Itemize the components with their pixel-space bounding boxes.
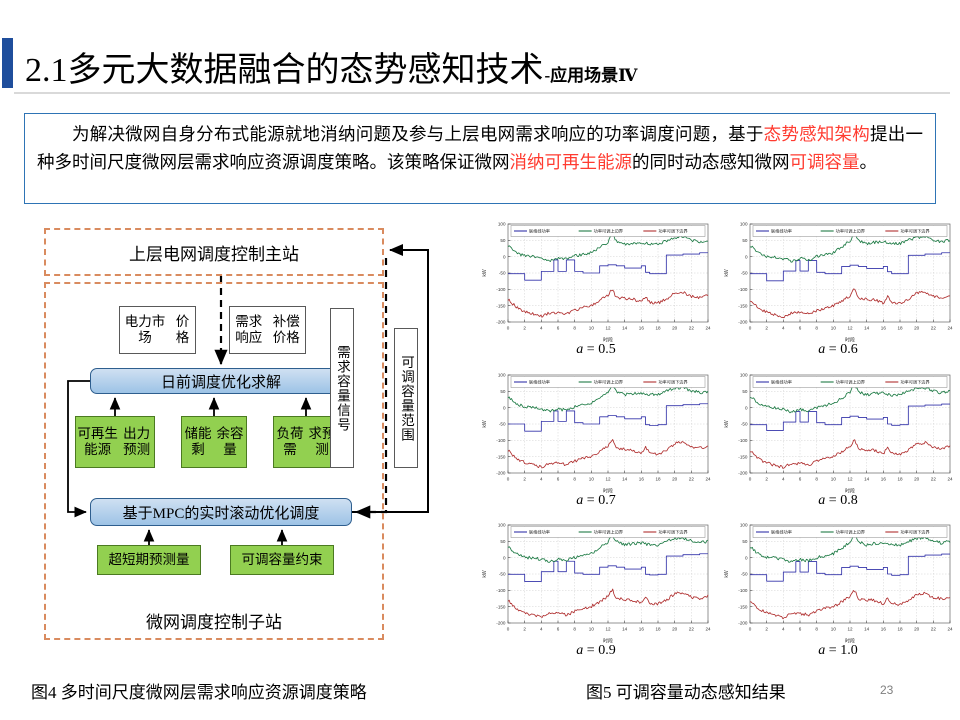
svg-text:6: 6	[557, 326, 560, 331]
svg-text:16: 16	[881, 627, 887, 632]
svg-text:8: 8	[815, 476, 818, 481]
abstract-highlight-1: 态势感知架构	[764, 124, 870, 144]
legend-label: 功率可调上边界	[594, 378, 624, 385]
svg-text:-200: -200	[738, 470, 748, 475]
svg-text:18: 18	[655, 627, 661, 632]
chart-panel-caption: a = 0.8	[720, 493, 956, 509]
svg-text:20: 20	[672, 627, 678, 632]
svg-text:50: 50	[500, 238, 506, 243]
svg-text:50: 50	[742, 539, 748, 544]
svg-text:24: 24	[705, 627, 711, 632]
mpc-realtime-rolling-box: 基于MPC的实时滚动优化调度	[90, 498, 352, 526]
dr-compensation-price-box: 需求响应补偿价格	[229, 306, 306, 354]
svg-text:8: 8	[573, 627, 576, 632]
svg-text:2: 2	[765, 476, 768, 481]
svg-text:2: 2	[523, 326, 526, 331]
figure-4-caption: 图4 多时间尺度微网层需求响应资源调度策略	[31, 678, 367, 703]
svg-text:100: 100	[498, 523, 506, 528]
svg-text:20: 20	[672, 326, 678, 331]
svg-text:10: 10	[831, 627, 837, 632]
svg-text:-100: -100	[738, 287, 748, 292]
svg-text:6: 6	[799, 326, 802, 331]
adjustable-capacity-chart-grid: 024681012141618202224100500-50-100-150-2…	[478, 218, 956, 668]
svg-text:18: 18	[897, 326, 903, 331]
svg-text:4: 4	[782, 627, 785, 632]
legend-label: 功率可调下边界	[900, 228, 930, 235]
svg-text:4: 4	[540, 627, 543, 632]
svg-text:2: 2	[523, 476, 526, 481]
abstract-part-1: 为解决微网自身分布式能源就地消纳问题及参与上层电网需求响应的功率调度问题，基于	[72, 124, 764, 144]
svg-text:-200: -200	[738, 320, 748, 325]
chart-panel-caption: a = 0.5	[478, 342, 714, 358]
svg-text:10: 10	[589, 476, 595, 481]
legend-label: 功率可调上边界	[594, 529, 624, 536]
chart-panel-caption: a = 0.6	[720, 342, 956, 358]
svg-text:2: 2	[765, 326, 768, 331]
svg-text:-100: -100	[496, 287, 506, 292]
svg-text:14: 14	[864, 476, 870, 481]
page-subtitle: -应用场景Ⅳ	[545, 61, 638, 86]
svg-text:22: 22	[931, 476, 937, 481]
svg-text:16: 16	[639, 326, 645, 331]
chart-panel-caption: a = 0.9	[478, 643, 714, 659]
svg-text:50: 50	[500, 389, 506, 394]
abstract-part-4: 。	[860, 152, 878, 172]
svg-text:10: 10	[589, 326, 595, 331]
legend-label: 功率可调下边界	[900, 529, 930, 536]
svg-text:24: 24	[705, 476, 711, 481]
legend-label: 联络线功率	[529, 529, 550, 536]
svg-text:12: 12	[847, 476, 853, 481]
svg-text:-100: -100	[496, 588, 506, 593]
legend-label: 联络线功率	[771, 228, 792, 235]
legend-label: 功率可调下边界	[900, 378, 930, 385]
svg-text:18: 18	[655, 326, 661, 331]
svg-text:-200: -200	[496, 621, 506, 626]
svg-text:12: 12	[847, 326, 853, 331]
svg-text:4: 4	[540, 476, 543, 481]
chart-panel: 024681012141618202224100500-50-100-150-2…	[720, 519, 956, 668]
svg-text:100: 100	[498, 372, 506, 377]
svg-text:kW: kW	[482, 420, 488, 428]
svg-text:100: 100	[498, 222, 506, 227]
svg-text:18: 18	[897, 476, 903, 481]
svg-text:-100: -100	[738, 438, 748, 443]
svg-text:-150: -150	[738, 303, 748, 308]
legend-label: 联络线功率	[771, 529, 792, 536]
svg-text:0: 0	[749, 476, 752, 481]
svg-text:-50: -50	[499, 421, 506, 426]
svg-text:14: 14	[622, 627, 628, 632]
slide-title-bar: 2.1多元大数据融合的态势感知技术 -应用场景Ⅳ	[0, 36, 960, 88]
svg-text:8: 8	[573, 476, 576, 481]
svg-text:-50: -50	[499, 572, 506, 577]
svg-text:20: 20	[914, 476, 920, 481]
svg-text:8: 8	[815, 326, 818, 331]
svg-text:6: 6	[799, 627, 802, 632]
svg-text:-200: -200	[738, 621, 748, 626]
svg-text:16: 16	[639, 627, 645, 632]
legend-label: 功率可调上边界	[836, 529, 866, 536]
demand-capacity-signal-box: 需求容量信号	[330, 308, 354, 468]
svg-text:50: 50	[742, 389, 748, 394]
svg-text:-150: -150	[496, 454, 506, 459]
svg-text:2: 2	[523, 627, 526, 632]
svg-text:100: 100	[740, 523, 748, 528]
abstract-box: 为解决微网自身分布式能源就地消纳问题及参与上层电网需求响应的功率调度问题，基于态…	[24, 113, 936, 204]
svg-text:100: 100	[740, 222, 748, 227]
legend-label: 联络线功率	[529, 228, 550, 235]
svg-text:14: 14	[622, 326, 628, 331]
svg-text:50: 50	[500, 539, 506, 544]
renewable-output-forecast-box: 可再生能源出力预测	[75, 416, 155, 468]
svg-text:0: 0	[745, 405, 748, 410]
chart-panel: 024681012141618202224100500-50-100-150-2…	[478, 369, 714, 518]
page-title: 2.1多元大数据融合的态势感知技术	[25, 54, 544, 88]
day-ahead-optimization-box: 日前调度优化求解	[90, 368, 352, 394]
svg-text:0: 0	[503, 254, 506, 259]
svg-text:22: 22	[689, 627, 695, 632]
svg-text:16: 16	[881, 326, 887, 331]
svg-text:4: 4	[782, 476, 785, 481]
svg-text:24: 24	[705, 326, 711, 331]
svg-text:4: 4	[782, 326, 785, 331]
svg-text:0: 0	[503, 556, 506, 561]
svg-text:0: 0	[507, 627, 510, 632]
legend-label: 功率可调下边界	[658, 529, 688, 536]
svg-text:50: 50	[742, 238, 748, 243]
svg-text:18: 18	[655, 476, 661, 481]
svg-text:-50: -50	[741, 572, 748, 577]
svg-text:20: 20	[672, 476, 678, 481]
chart-panel: 024681012141618202224100500-50-100-150-2…	[478, 218, 714, 367]
svg-text:22: 22	[689, 326, 695, 331]
svg-text:12: 12	[605, 326, 611, 331]
svg-text:6: 6	[557, 627, 560, 632]
svg-text:0: 0	[745, 556, 748, 561]
legend-label: 功率可调上边界	[836, 378, 866, 385]
page-number: 23	[880, 683, 893, 697]
svg-text:-50: -50	[741, 421, 748, 426]
svg-text:12: 12	[605, 476, 611, 481]
adjustable-capacity-range-box: 可调容量范围	[394, 328, 418, 468]
ultra-short-term-forecast-box: 超短期预测量	[97, 545, 201, 575]
svg-text:8: 8	[815, 627, 818, 632]
figure-5-caption: 图5 可调容量动态感知结果	[586, 678, 786, 703]
svg-text:10: 10	[831, 326, 837, 331]
svg-text:-150: -150	[738, 454, 748, 459]
svg-text:20: 20	[914, 326, 920, 331]
svg-text:22: 22	[931, 326, 937, 331]
microgrid-sub-station-label: 微网调度控制子站	[44, 604, 384, 636]
scheduling-strategy-diagram: 上层电网调度控制主站 微网调度控制子站 电力市场价格 需求响应补偿价格 日前调度…	[42, 228, 452, 640]
svg-text:-50: -50	[499, 271, 506, 276]
svg-text:-150: -150	[496, 605, 506, 610]
svg-text:14: 14	[864, 627, 870, 632]
svg-text:0: 0	[749, 627, 752, 632]
svg-text:kW: kW	[724, 570, 730, 578]
legend-label: 功率可调下边界	[658, 378, 688, 385]
legend-label: 功率可调下边界	[658, 228, 688, 235]
svg-text:kW: kW	[482, 269, 488, 277]
abstract-highlight-2: 消纳可再生能源	[510, 152, 633, 172]
svg-text:100: 100	[740, 372, 748, 377]
svg-text:kW: kW	[482, 570, 488, 578]
svg-text:24: 24	[947, 627, 953, 632]
svg-text:16: 16	[639, 476, 645, 481]
svg-text:18: 18	[897, 627, 903, 632]
svg-text:-200: -200	[496, 320, 506, 325]
svg-text:0: 0	[507, 326, 510, 331]
upper-grid-master-station-label: 上层电网调度控制主站	[44, 228, 384, 276]
abstract-highlight-3: 可调容量	[790, 152, 860, 172]
svg-text:14: 14	[864, 326, 870, 331]
svg-text:-200: -200	[496, 470, 506, 475]
legend-label: 联络线功率	[771, 378, 792, 385]
electricity-market-price-box: 电力市场价格	[119, 306, 196, 354]
svg-text:kW: kW	[724, 420, 730, 428]
svg-text:12: 12	[605, 627, 611, 632]
title-accent-bar	[2, 38, 13, 88]
svg-text:14: 14	[622, 476, 628, 481]
svg-text:-150: -150	[738, 605, 748, 610]
svg-text:4: 4	[540, 326, 543, 331]
abstract-part-3: 的同时动态感知微网	[632, 152, 790, 172]
svg-text:-50: -50	[741, 271, 748, 276]
legend-label: 功率可调上边界	[594, 228, 624, 235]
chart-plot: 024681012141618202224100500-50-100-150-2…	[478, 369, 714, 495]
chart-panel: 024681012141618202224100500-50-100-150-2…	[720, 369, 956, 518]
svg-text:24: 24	[947, 326, 953, 331]
svg-text:24: 24	[947, 476, 953, 481]
svg-text:12: 12	[847, 627, 853, 632]
svg-text:10: 10	[589, 627, 595, 632]
svg-text:0: 0	[745, 254, 748, 259]
svg-text:-100: -100	[738, 588, 748, 593]
abstract-text: 为解决微网自身分布式能源就地消纳问题及参与上层电网需求响应的功率调度问题，基于态…	[37, 120, 923, 176]
svg-text:0: 0	[507, 476, 510, 481]
svg-text:10: 10	[831, 476, 837, 481]
storage-remaining-capacity-box: 储能剩余容量	[181, 416, 247, 468]
chart-plot: 024681012141618202224100500-50-100-150-2…	[478, 519, 714, 645]
chart-plot: 024681012141618202224100500-50-100-150-2…	[478, 218, 714, 344]
chart-panel: 024681012141618202224100500-50-100-150-2…	[478, 519, 714, 668]
svg-text:16: 16	[881, 476, 887, 481]
chart-plot: 024681012141618202224100500-50-100-150-2…	[720, 369, 956, 495]
adjustable-capacity-constraint-box: 可调容量约束	[230, 545, 334, 575]
svg-text:-150: -150	[496, 303, 506, 308]
svg-text:0: 0	[503, 405, 506, 410]
svg-text:kW: kW	[724, 269, 730, 277]
chart-plot: 024681012141618202224100500-50-100-150-2…	[720, 218, 956, 344]
svg-text:20: 20	[914, 627, 920, 632]
svg-text:22: 22	[931, 627, 937, 632]
svg-text:8: 8	[573, 326, 576, 331]
svg-text:2: 2	[765, 627, 768, 632]
svg-text:0: 0	[749, 326, 752, 331]
chart-panel-caption: a = 1.0	[720, 643, 956, 659]
svg-text:22: 22	[689, 476, 695, 481]
title-divider	[14, 92, 950, 94]
chart-panel: 024681012141618202224100500-50-100-150-2…	[720, 218, 956, 367]
legend-label: 联络线功率	[529, 378, 550, 385]
chart-panel-caption: a = 0.7	[478, 493, 714, 509]
legend-label: 功率可调上边界	[836, 228, 866, 235]
chart-plot: 024681012141618202224100500-50-100-150-2…	[720, 519, 956, 645]
svg-text:6: 6	[557, 476, 560, 481]
svg-text:-100: -100	[496, 438, 506, 443]
svg-text:6: 6	[799, 476, 802, 481]
